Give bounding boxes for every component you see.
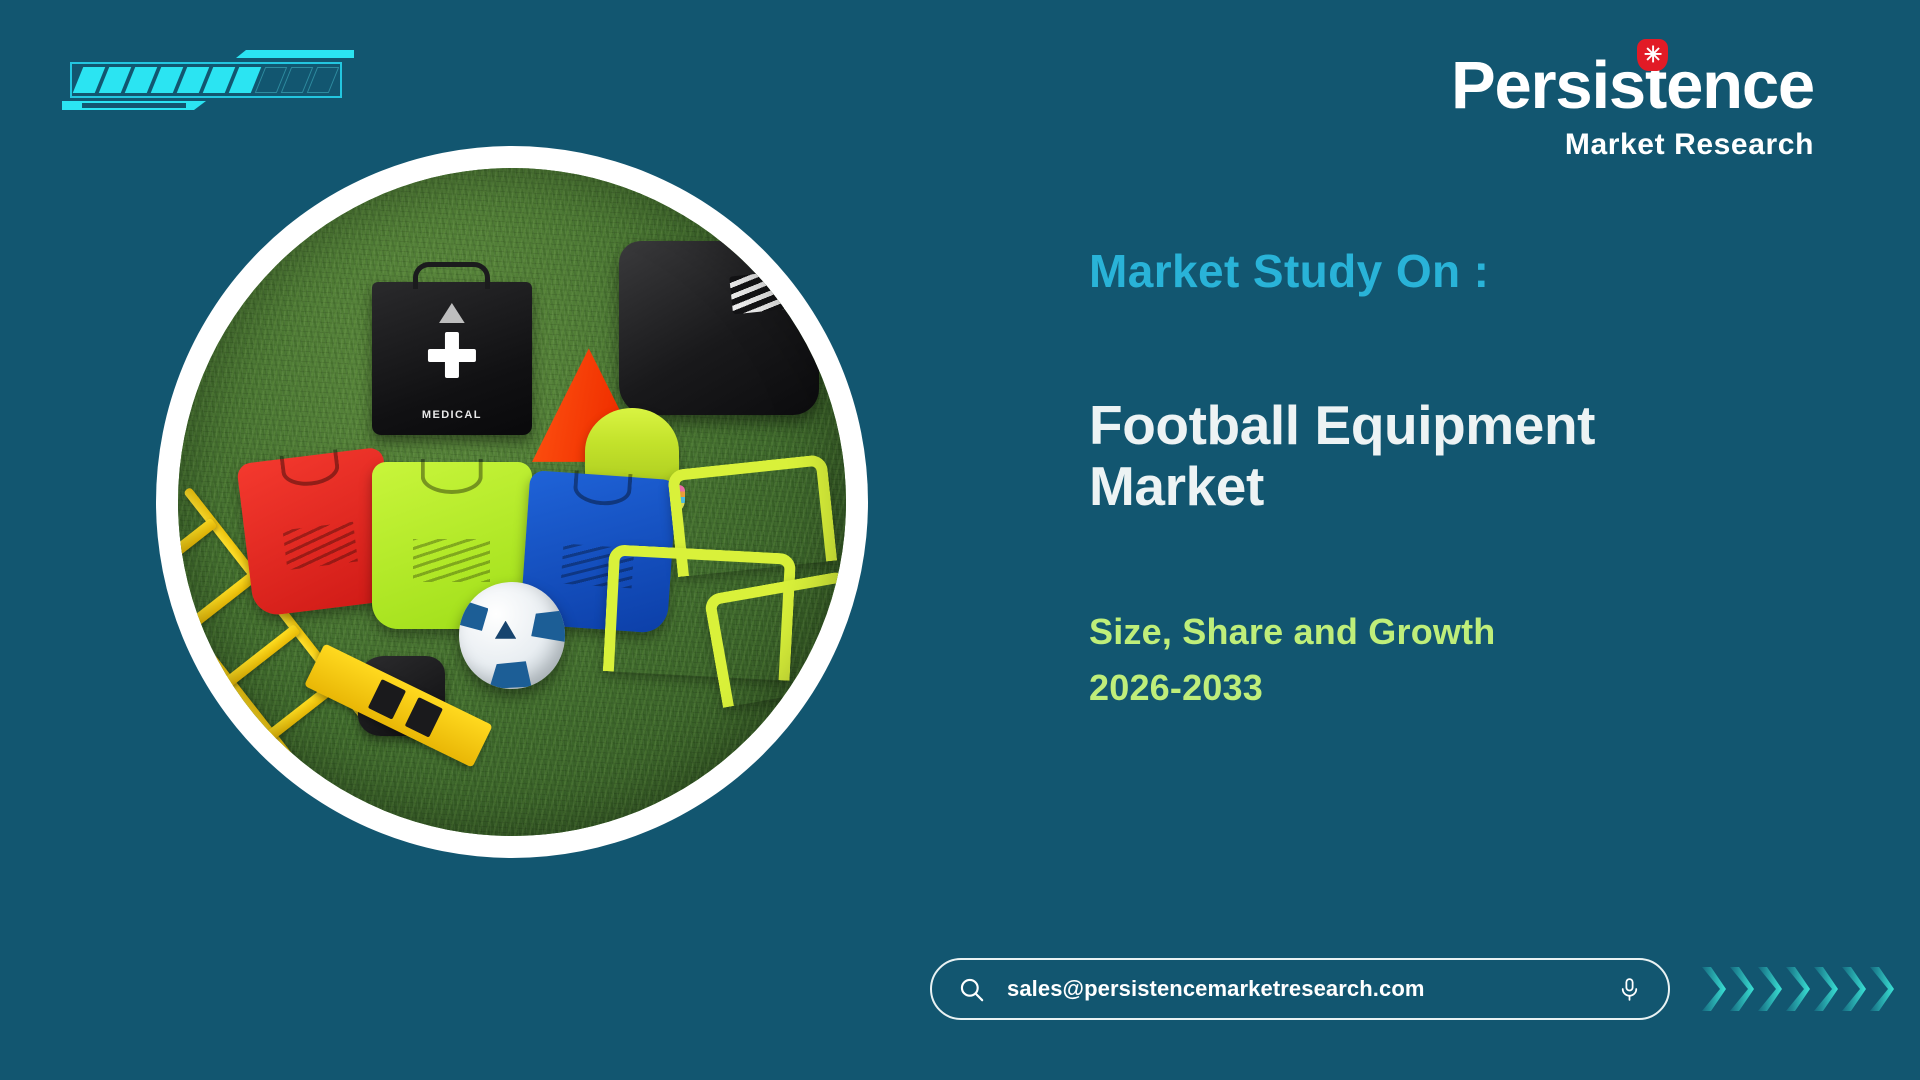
subtitle-block: Size, Share and Growth 2026-2033 [1089,604,1789,716]
duffel-bag [619,241,819,415]
brand-name: Persistence [1451,52,1814,119]
subtitle-line-2: 2026-2033 [1089,660,1789,716]
strap-buckle [368,680,405,720]
hud-progress-decoration [56,48,356,110]
bag-handle [413,262,490,290]
ladder-rung [178,517,218,581]
headline-block: Market Study On : Football Equipment Mar… [1089,246,1789,715]
chevron-right-icon [1784,965,1811,1013]
marketing-banner: MEDICAL [0,0,1920,1080]
microphone-icon[interactable] [1617,977,1642,1002]
ladder-rung [182,570,260,634]
medical-cross-icon [428,332,476,378]
duffel-stripes [729,269,801,314]
asterisk-star-icon [1637,39,1668,71]
magnifier-icon[interactable] [958,976,985,1003]
email-text[interactable]: sales@persistencemarketresearch.com [1007,976,1595,1002]
bib-print [283,522,358,570]
hud-accent-bottom-cutout [82,103,186,108]
bib-print [413,539,490,582]
medical-bag: MEDICAL [372,282,532,436]
brand-mark-icon [439,303,465,323]
chevron-right-icon [1728,965,1755,1013]
chevron-right-icon [1840,965,1867,1013]
brand-tagline: Market Research [1451,130,1814,160]
ball-panel [531,610,565,646]
chevron-right-icon [1700,965,1727,1013]
subtitle-line-1: Size, Share and Growth [1089,604,1789,660]
medical-bag-label: MEDICAL [372,409,532,421]
hud-bar-group [78,67,334,93]
ball-brand-icon [495,621,516,639]
page-title: Football Equipment Market [1089,395,1729,518]
strap-buckle [405,698,442,738]
chevron-right-icon [1868,965,1895,1013]
hero-image-ring: MEDICAL [156,146,868,858]
hud-accent-top [236,50,354,58]
email-search-bar[interactable]: sales@persistencemarketresearch.com [930,958,1670,1020]
chevron-decoration [1700,963,1890,1015]
hero-image: MEDICAL [178,168,846,836]
chevron-right-icon [1756,965,1783,1013]
chevron-right-icon [1812,965,1839,1013]
eyebrow-text: Market Study On : [1089,246,1789,297]
agility-hurdle [704,570,846,707]
brand-name-text: Persistence [1451,48,1814,123]
soccer-ball [459,582,566,689]
ladder-rung [223,624,301,688]
ball-panel [486,661,533,689]
brand-logo: Persistence Market Research [1451,52,1814,160]
